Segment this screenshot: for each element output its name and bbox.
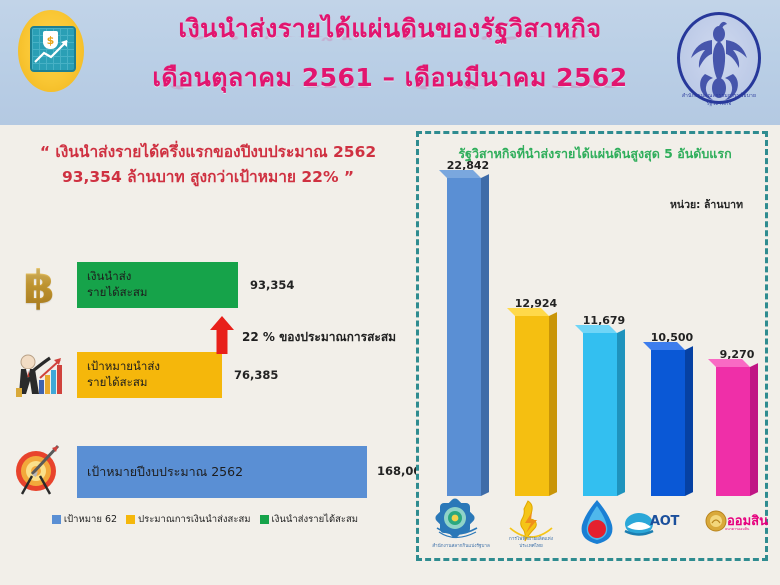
column-aot: 10,500	[651, 350, 693, 496]
legend-label-estimate: ประมาณการเงินนำส่งสะสม	[138, 512, 250, 527]
legend-swatch-target62	[52, 515, 61, 524]
bar-target-cumulative: เป้าหมายนำส่ง รายได้สะสม	[77, 352, 222, 398]
bar3d-gsb	[716, 367, 750, 496]
chart-shield-badge-icon: $	[18, 10, 84, 92]
legend-item-estimate: ประมาณการเงินนำส่งสะสม	[126, 512, 250, 527]
quote-line-1: “ เงินนำส่งรายได้ครึ่งแรกของปีงบประมาณ 2…	[8, 140, 408, 165]
slide-root: $ เงินนำส่งรายได้แผ่นดินของรัฐวิสาหกิจ เ…	[0, 0, 780, 585]
baht-coin-icon: ฿	[8, 258, 70, 320]
company-logos-row: สำนักงานสลากกินแบ่งรัฐบาล การไฟฟ้าฝ่ายผล…	[419, 494, 771, 550]
businessman-figure	[8, 348, 70, 410]
headline-quote: “ เงินนำส่งรายได้ครึ่งแรกของปีงบประมาณ 2…	[8, 140, 408, 190]
legend-label-actual: เงินนำส่งรายได้สะสม	[272, 512, 359, 527]
left-chart-legend: เป้าหมาย 62 ประมาณการเงินนำส่งสะสม เงินน…	[0, 512, 410, 527]
up-arrow-icon	[210, 316, 234, 354]
bar3d-ptt	[583, 333, 617, 496]
bar-fiscal-year-target: เป้าหมายปีงบประมาณ 2562	[77, 446, 367, 498]
bar-revenue-remitted-value: 93,354	[250, 278, 294, 292]
businessman-chart-icon	[8, 348, 70, 410]
legend-swatch-actual	[260, 515, 269, 524]
legend-label-target62: เป้าหมาย 62	[64, 512, 117, 527]
government-lottery-office-logo: สำนักงานสลากกินแบ่งรัฐบาล	[431, 498, 491, 550]
badge-dollar-shield-icon: $	[43, 31, 58, 49]
gsb-subcaption: ธนาคารออมสิน	[725, 526, 749, 532]
ptt-flame-icon	[567, 498, 627, 548]
target-figure	[8, 438, 70, 500]
column-egat: 12,924	[515, 316, 557, 496]
lottery-logo-caption: สำนักงานสลากกินแบ่งรัฐบาล	[431, 543, 491, 550]
target-arrow-icon	[8, 438, 70, 500]
bar3d-aot	[651, 350, 685, 496]
gsb-logo: ออมสิน ธนาคารออมสิน	[705, 498, 771, 550]
quote-line-2: 93,354 ล้านบาท สูงกว่าเป้าหมาย 22% ”	[8, 165, 408, 190]
egat-logo-caption: การไฟฟ้าฝ่ายผลิตแห่งประเทศไทย	[501, 536, 561, 550]
baht-glyph: ฿	[8, 258, 70, 316]
bar-revenue-remitted: เงินนำส่ง รายได้สะสม	[77, 262, 238, 308]
bar-revenue-remitted-label: เงินนำส่ง รายได้สะสม	[87, 269, 147, 300]
seal-caption: สำนักงานคณะกรรมการนโยบายรัฐวิสาหกิจ	[672, 92, 766, 108]
page-title-line2-reflection: เดือนตุลาคม 2561 – เดือนมีนาคม 2562	[120, 85, 660, 93]
gsb-emblem-icon	[705, 510, 727, 532]
bar-target-cumulative-label: เป้าหมายนำส่ง รายได้สะสม	[87, 359, 160, 390]
legend-item-actual: เงินนำส่งรายได้สะสม	[260, 512, 359, 527]
bar3d-egat	[515, 316, 549, 496]
growth-annotation: 22 % ของประมาณการสะสม	[242, 328, 396, 347]
garuda-seal-icon: สำนักงานคณะกรรมการนโยบายรัฐวิสาหกิจ	[672, 8, 766, 112]
lottery-emblem-icon	[431, 498, 491, 544]
legend-swatch-estimate	[126, 515, 135, 524]
aot-wordmark: AOT	[650, 514, 679, 529]
egat-logo: การไฟฟ้าฝ่ายผลิตแห่งประเทศไทย	[501, 498, 561, 550]
header-title-block: เงินนำส่งรายได้แผ่นดินของรัฐวิสาหกิจ เงิ…	[120, 10, 660, 120]
top5-panel: รัฐวิสาหกิจที่นำส่งรายได้แผ่นดินสูงสุด 5…	[416, 131, 768, 561]
left-bar-chart: ฿	[0, 250, 410, 500]
column-ptt: 11,679	[583, 333, 625, 496]
header-banner: $ เงินนำส่งรายได้แผ่นดินของรัฐวิสาหกิจ เ…	[0, 0, 780, 125]
bar-target-cumulative-value: 76,385	[234, 368, 278, 382]
column-gsb: 9,270	[716, 367, 758, 496]
aot-logo: AOT	[624, 498, 708, 550]
page-title-line1-reflection: เงินนำส่งรายได้แผ่นดินของรัฐวิสาหกิจ	[120, 36, 660, 44]
legend-item-target62: เป้าหมาย 62	[52, 512, 117, 527]
ptt-logo	[567, 498, 627, 550]
column-lottery: 22,842	[447, 178, 489, 496]
bar-fiscal-year-target-label: เป้าหมายปีงบประมาณ 2562	[87, 464, 243, 481]
badge-chart-square: $	[30, 26, 76, 72]
bar3d-lottery	[447, 178, 481, 496]
